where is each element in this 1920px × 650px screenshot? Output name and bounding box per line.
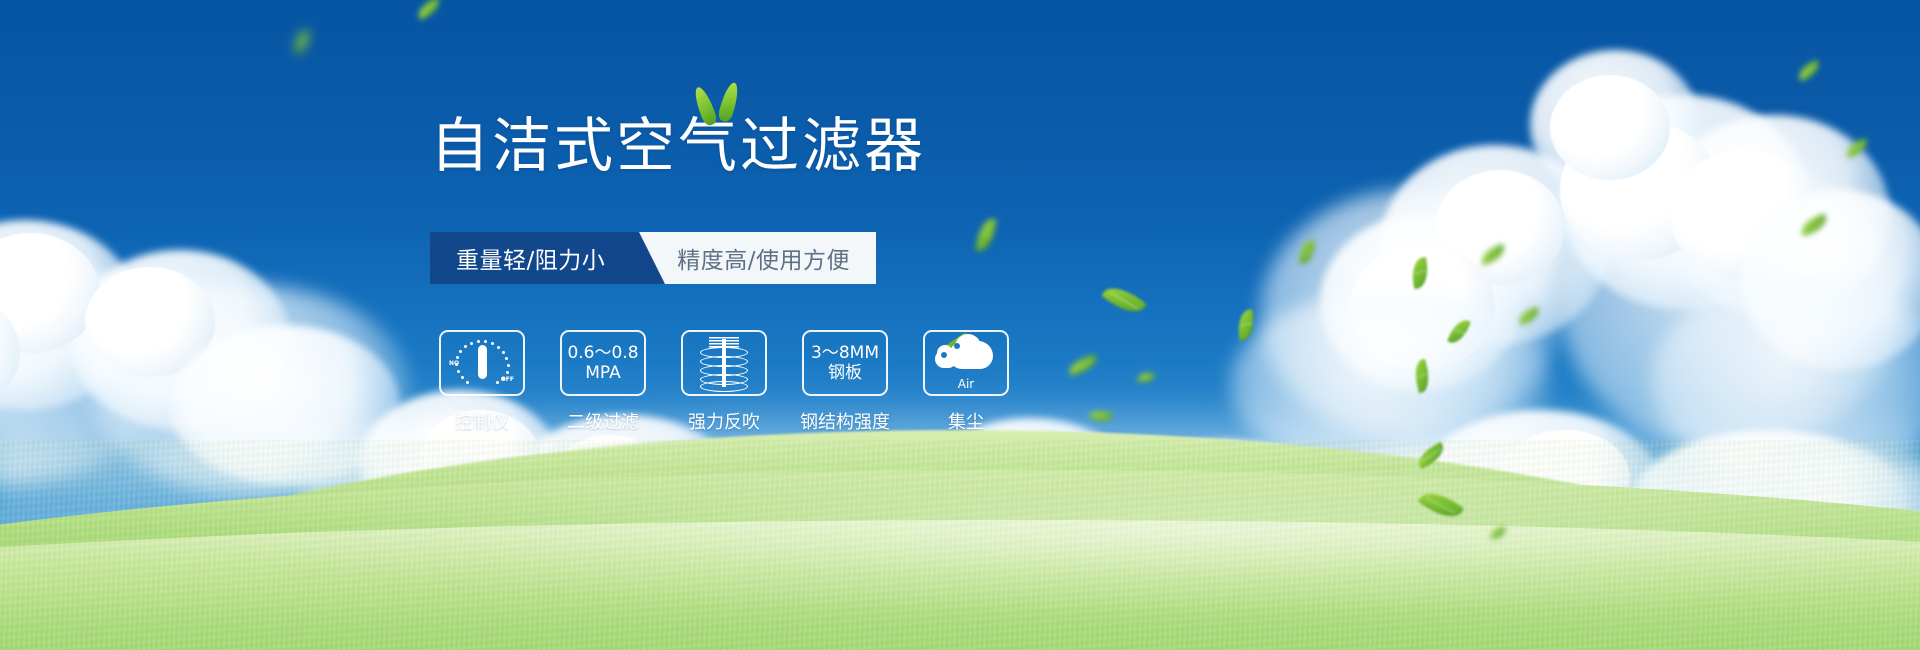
feature-text-line1: 3～8MM xyxy=(811,343,879,363)
feature-text-line2: MPA xyxy=(567,363,638,383)
feature-box: NO OFF xyxy=(439,330,525,396)
filter-coil-icon xyxy=(698,337,750,389)
leaf-icon xyxy=(691,85,718,127)
feature-box: Air xyxy=(923,330,1009,396)
feature-item-backblow[interactable]: 强力反吹 xyxy=(680,330,768,434)
page-title: 自洁式空气过滤器 xyxy=(430,116,926,176)
feature-list: NO OFF 控制仪 0.6～0.8 MPA 二级过滤 xyxy=(438,330,1010,434)
feature-item-control[interactable]: NO OFF 控制仪 xyxy=(438,330,526,434)
feature-label: 集尘 xyxy=(948,408,984,434)
feature-label: 强力反吹 xyxy=(688,408,760,434)
feature-item-steel[interactable]: 3～8MM 钢板 钢结构强度 xyxy=(801,330,889,434)
badge-divider xyxy=(639,232,665,284)
badge-secondary[interactable]: 精度高/使用方便 xyxy=(665,232,876,284)
feature-item-dust[interactable]: Air 集尘 xyxy=(922,330,1010,434)
pressure-text-icon: 0.6～0.8 MPA xyxy=(567,343,638,383)
feature-box: 3～8MM 钢板 xyxy=(802,330,888,396)
feature-item-pressure[interactable]: 0.6～0.8 MPA 二级过滤 xyxy=(559,330,647,434)
badge-primary[interactable]: 重量轻/阻力小 xyxy=(430,232,639,284)
air-label: Air xyxy=(935,377,997,391)
tagline-badges: 重量轻/阻力小 精度高/使用方便 xyxy=(430,232,876,284)
steel-plate-text-icon: 3～8MM 钢板 xyxy=(811,343,879,383)
feature-text-line1: 0.6～0.8 xyxy=(567,343,638,363)
hero-banner: 自洁式空气过滤器 重量轻/阻力小 精度高/使用方便 xyxy=(0,0,1920,650)
air-cloud-icon: Air xyxy=(935,337,997,389)
banner-title-row: 自洁式空气过滤器 xyxy=(430,116,926,176)
feature-text-line2: 钢板 xyxy=(811,363,879,383)
gauge-icon: NO OFF xyxy=(451,338,513,388)
feature-label: 钢结构强度 xyxy=(800,408,890,434)
gauge-off-label: OFF xyxy=(501,376,514,383)
title-leaf-pair xyxy=(692,82,752,128)
gauge-on-label: NO xyxy=(449,360,459,367)
feature-box: 0.6～0.8 MPA xyxy=(560,330,646,396)
feature-box xyxy=(681,330,767,396)
gauge-needle xyxy=(478,345,487,379)
feature-label: 控制仪 xyxy=(455,408,509,434)
feature-label: 二级过滤 xyxy=(567,408,639,434)
leaf-icon xyxy=(717,81,741,123)
